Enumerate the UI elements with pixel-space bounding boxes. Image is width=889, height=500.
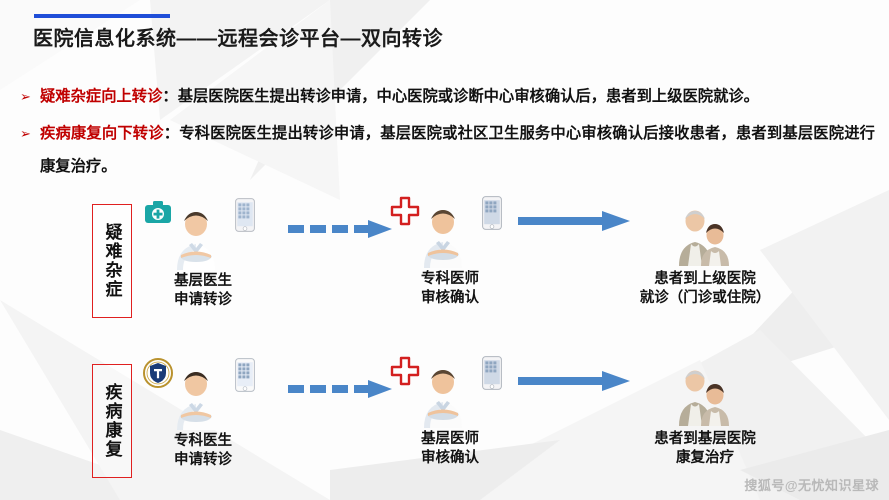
bullet-item-downward-referral: ➢疾病康复向下转诊：专科医院医生提出转诊申请，基层医院或社区卫生服务中心审核确认… — [0, 117, 889, 183]
flow-node-specialist-apply: 专科医生 申请转诊 — [128, 358, 278, 470]
bullet-marker-icon: ➢ — [20, 117, 31, 150]
node-caption: 专科医生 申请转诊 — [128, 432, 278, 470]
slide-canvas: 医院信息化系统——远程会诊平台—双向转诊 ➢疑难杂症向上转诊：基层医院医生提出转… — [0, 0, 889, 500]
category-box-rehabilitation: 疾病康复 — [92, 364, 132, 478]
page-title: 医院信息化系统——远程会诊平台—双向转诊 — [33, 22, 443, 51]
category-label: 疑难杂症 — [104, 223, 121, 299]
bullet-list: ➢疑难杂症向上转诊：基层医院医生提出转诊申请，中心医院或诊断中心审核确认后，患者… — [0, 80, 889, 187]
category-label: 疾病康复 — [104, 383, 121, 459]
doctor-figure-icon — [412, 206, 474, 268]
bullet-lead-0: 疑难杂症向上转诊 — [40, 88, 162, 105]
doctor-figure-icon — [165, 208, 227, 270]
slide-header: 医院信息化系统——远程会诊平台—双向转诊 — [0, 0, 889, 62]
artwork-elderly-couple-photo — [645, 196, 765, 268]
elderly-couple-icon — [671, 208, 737, 266]
node-caption: 专科医师 审核确认 — [375, 270, 525, 308]
smartphone-icon — [235, 358, 255, 392]
artwork-doctor-red-cross-phone — [390, 356, 510, 428]
bullet-item-upward-referral: ➢疑难杂症向上转诊：基层医院医生提出转诊申请，中心医院或诊断中心审核确认后，患者… — [0, 80, 889, 113]
flow-node-primary-review: 基层医师 审核确认 — [375, 356, 525, 468]
title-accent-bar — [34, 14, 170, 18]
elderly-couple-icon — [671, 368, 737, 426]
node-caption: 患者到上级医院 就诊（门诊或住院） — [605, 270, 805, 308]
flow-node-patient-upper-hospital: 患者到上级医院 就诊（门诊或住院） — [605, 196, 805, 308]
flow-node-specialist-review: 专科医师 审核确认 — [375, 196, 525, 308]
bullet-marker-icon: ➢ — [20, 80, 31, 113]
category-box-difficult-cases: 疑难杂症 — [92, 204, 132, 318]
artwork-doctor-shield-emblem-phone — [143, 358, 263, 430]
smartphone-icon — [482, 356, 502, 390]
referral-flow-diagram: 疑难杂症 — [0, 196, 889, 496]
bullet-lead-1: 疾病康复向下转诊 — [40, 125, 164, 142]
doctor-figure-icon — [412, 366, 474, 428]
watermark-label: 搜狐号@无忧知识星球 — [744, 475, 879, 494]
smartphone-icon — [482, 196, 502, 230]
node-caption: 患者到基层医院 康复治疗 — [605, 430, 805, 468]
node-caption: 基层医生 申请转诊 — [128, 272, 278, 310]
node-caption: 基层医师 审核确认 — [375, 430, 525, 468]
flow-row-upward: 疑难杂症 — [0, 196, 889, 336]
doctor-figure-icon — [165, 368, 227, 430]
bullet-body-1: ：专科医院医生提出转诊申请，基层医院或社区卫生服务中心审核确认后接收患者，患者到… — [40, 125, 875, 175]
flow-node-patient-primary-rehab: 患者到基层医院 康复治疗 — [605, 356, 805, 468]
artwork-doctor-red-cross-phone — [390, 196, 510, 268]
artwork-elderly-couple-photo — [645, 356, 765, 428]
artwork-doctor-green-emblem-phone — [143, 198, 263, 270]
smartphone-icon — [235, 198, 255, 232]
bullet-body-0: ：基层医院医生提出转诊申请，中心医院或诊断中心审核确认后，患者到上级医院就诊。 — [162, 88, 759, 105]
flow-node-primary-doctor-apply: 基层医生 申请转诊 — [128, 198, 278, 310]
